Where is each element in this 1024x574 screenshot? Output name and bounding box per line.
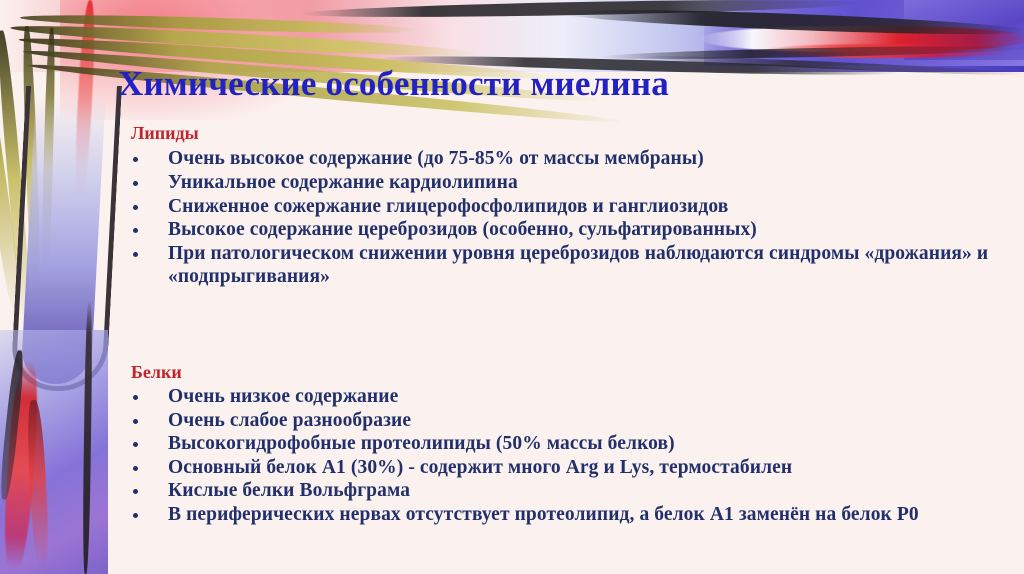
slide-content: Химические особенности миелина Липиды Оч…	[0, 0, 1024, 574]
bullet-list-lipids: Очень высокое содержание (до 75-85% от м…	[128, 148, 1008, 290]
list-item: Уникальное содержание кардиолипина	[128, 172, 1008, 195]
bullet-list-proteins: Очень низкое содержание Очень слабое раз…	[128, 386, 1008, 528]
list-item: В периферических нервах отсутствует прот…	[128, 504, 1008, 527]
list-item: Высокогидрофобные протеолипиды (50% масс…	[128, 433, 1008, 456]
list-item: Очень низкое содержание	[128, 386, 1008, 409]
list-item: Основный белок А1 (30%) - содержит много…	[128, 457, 1008, 480]
list-item: Высокое содержание цереброзидов (особенн…	[128, 219, 1008, 242]
section-heading-lipids: Липиды	[131, 124, 199, 144]
list-item: Кислые белки Вольфграма	[128, 480, 1008, 503]
list-item: Очень слабое разнообразие	[128, 410, 1008, 433]
section-heading-proteins: Белки	[131, 363, 182, 383]
list-item: Очень высокое содержание (до 75-85% от м…	[128, 148, 1008, 171]
list-item: При патологическом снижении уровня цереб…	[128, 243, 1008, 289]
slide-title: Химические особенности миелина	[118, 66, 998, 103]
list-item: Сниженное сожержание глицерофосфолипидов…	[128, 196, 1008, 219]
presentation-slide: Химические особенности миелина Липиды Оч…	[0, 0, 1024, 574]
